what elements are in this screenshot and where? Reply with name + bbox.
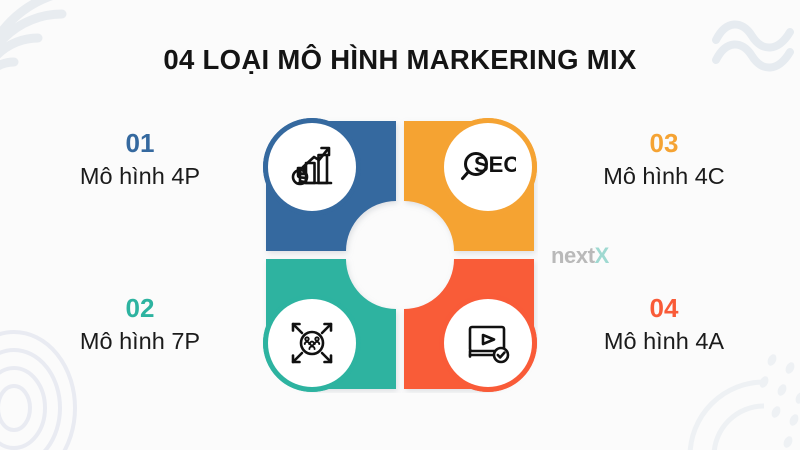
bar-chart-growth-money-icon (286, 141, 338, 193)
donut-diagram: SEO SEO (262, 117, 538, 393)
item-block-01: 01 Mô hình 4P (20, 130, 260, 190)
icon-bubble-03[interactable]: SEO SEO (444, 123, 532, 211)
video-verified-icon (462, 317, 514, 369)
icon-bubble-04[interactable] (444, 299, 532, 387)
item-block-02: 02 Mô hình 7P (20, 295, 260, 355)
item-block-04: 04 Mô hình 4A (544, 295, 784, 355)
item-label-02: Mô hình 7P (20, 328, 260, 355)
page-title: 04 LOẠI MÔ HÌNH MARKERING MIX (0, 44, 800, 76)
item-number-04: 04 (544, 295, 784, 322)
watermark-next-text: next (551, 243, 595, 268)
dotted-arc-decoration (680, 348, 800, 450)
item-label-01: Mô hình 4P (20, 163, 260, 190)
audience-expand-icon (286, 317, 338, 369)
icon-bubble-01[interactable] (268, 123, 356, 211)
icon-bubble-02[interactable] (268, 299, 356, 387)
item-label-04: Mô hình 4A (544, 328, 784, 355)
nextx-watermark: nextX (551, 243, 609, 269)
item-number-01: 01 (20, 130, 260, 157)
seo-magnifier-icon: SEO SEO (460, 144, 516, 190)
item-label-03: Mô hình 4C (544, 163, 784, 190)
watermark-x-text: X (595, 243, 609, 268)
item-number-02: 02 (20, 295, 260, 322)
item-block-03: 03 Mô hình 4C (544, 130, 784, 190)
item-number-03: 03 (544, 130, 784, 157)
